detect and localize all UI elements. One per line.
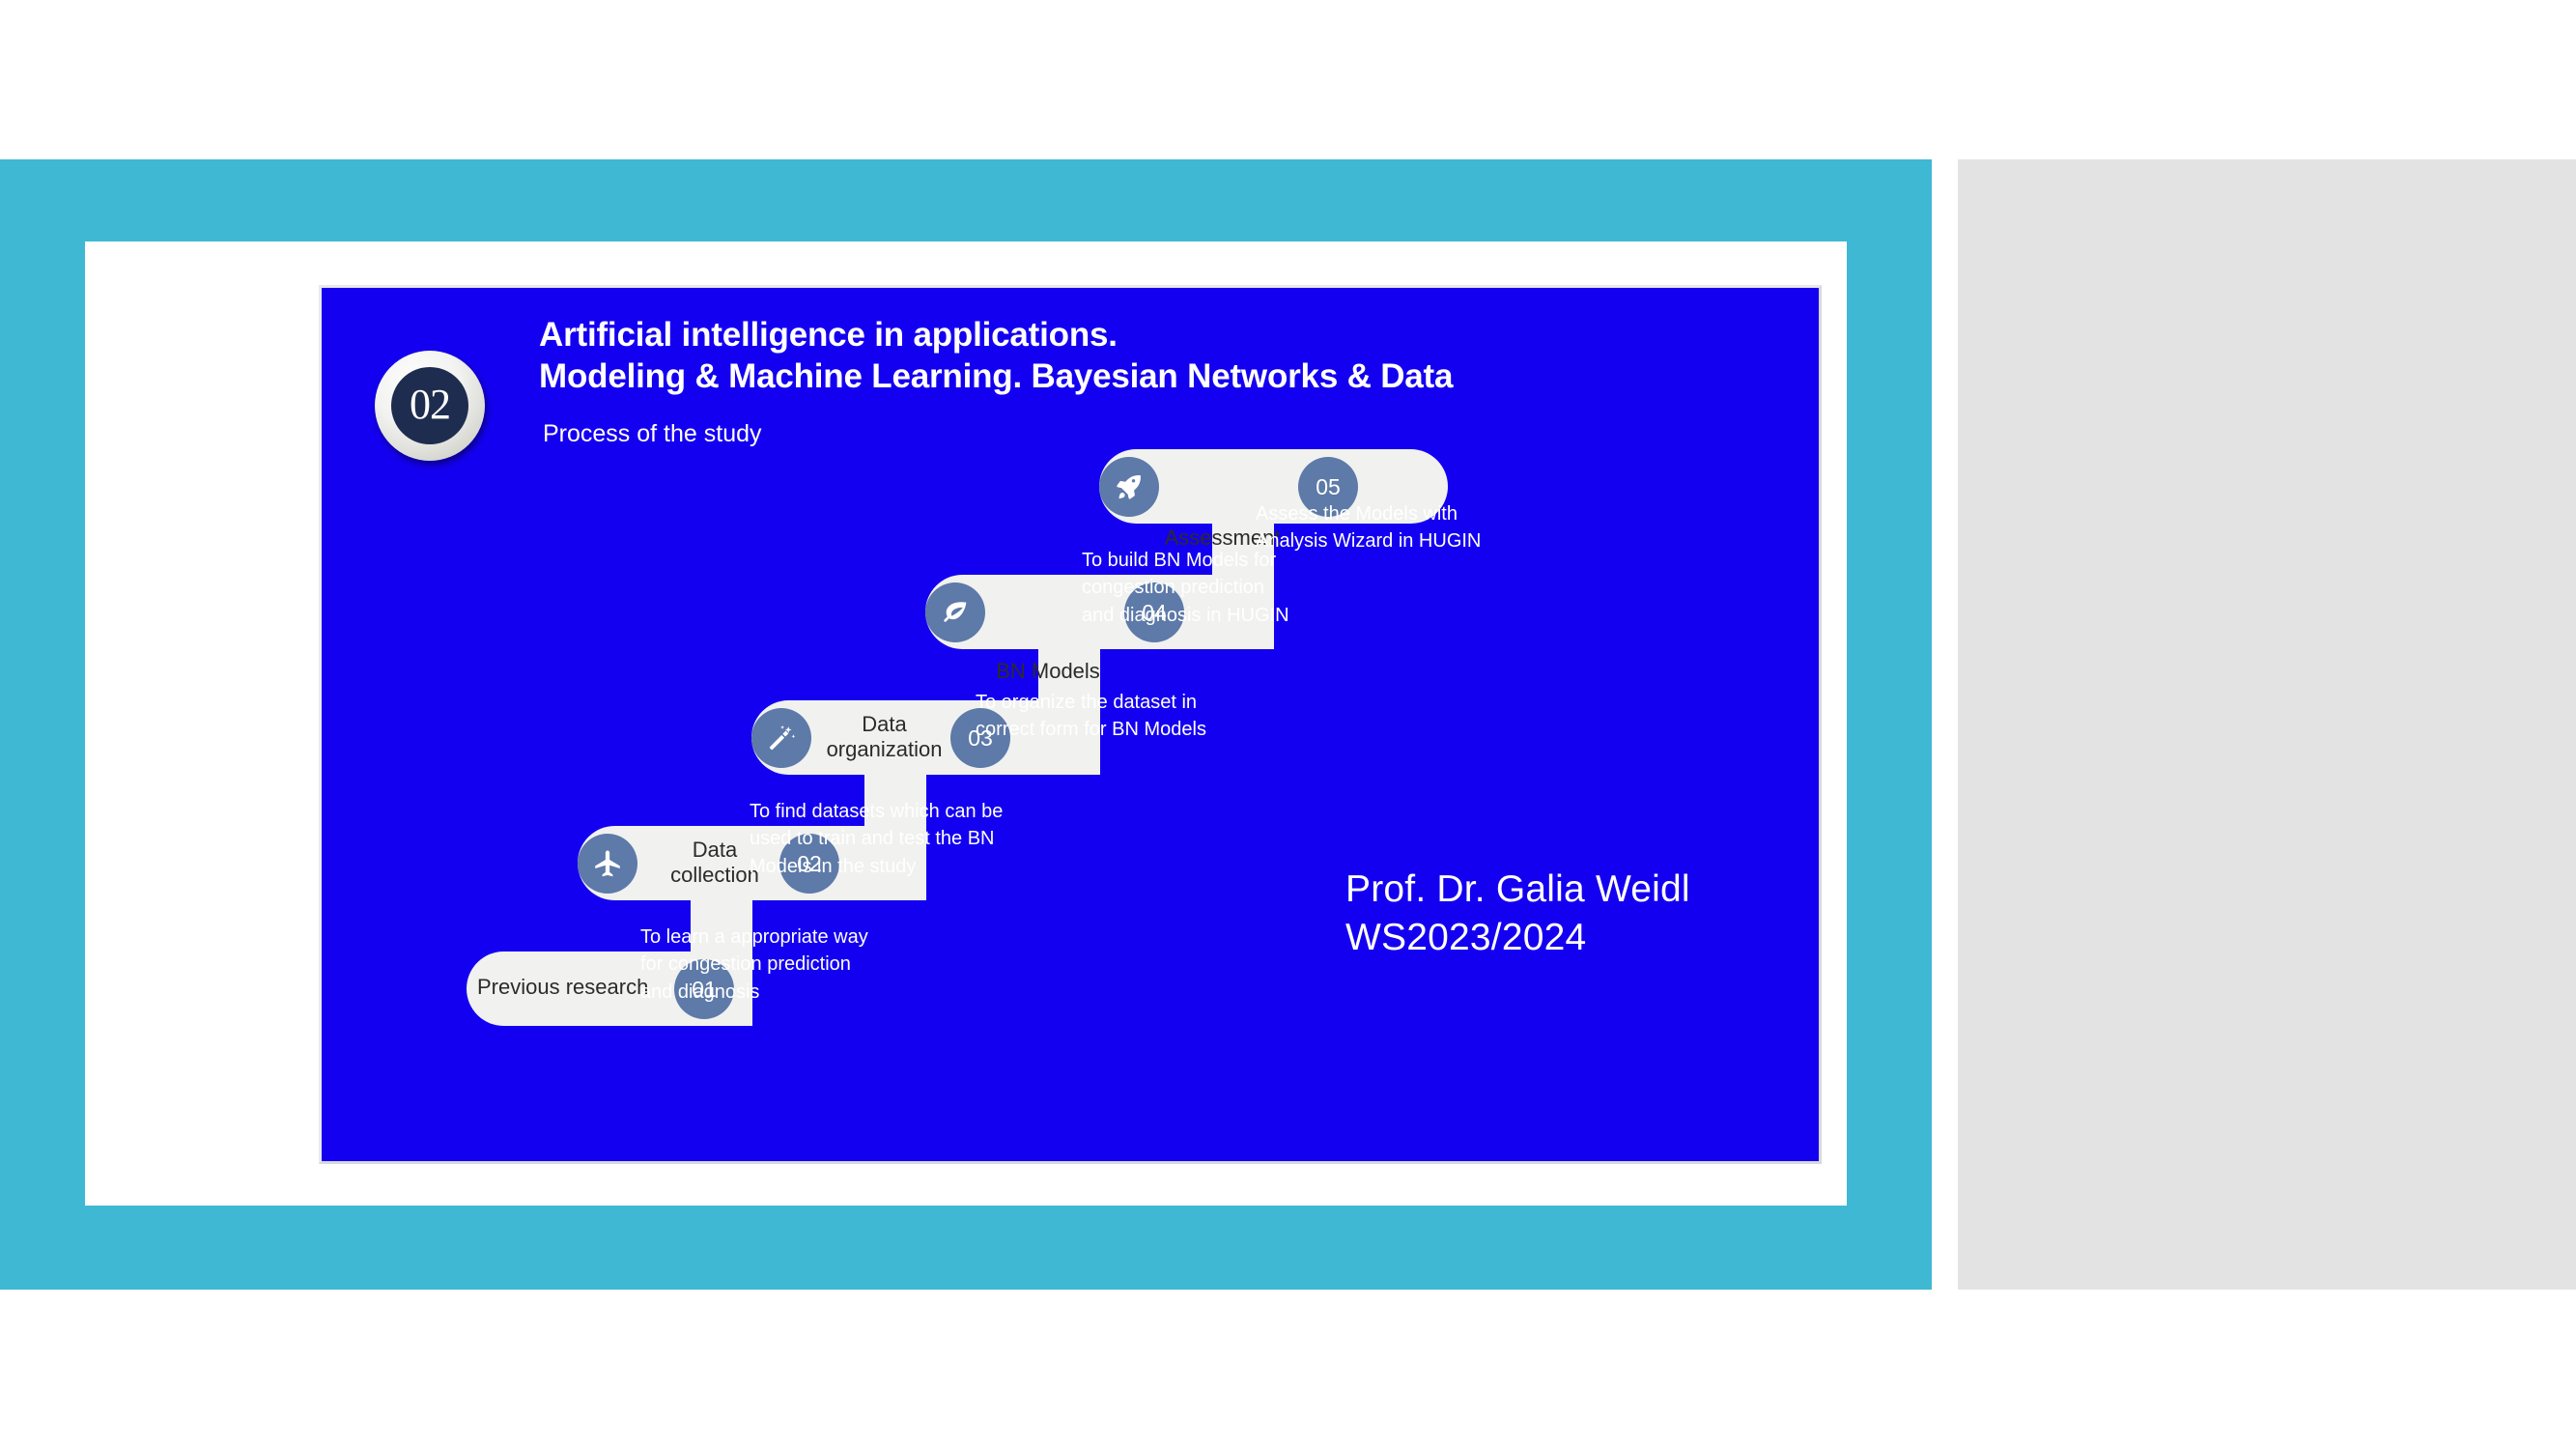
footer-author: Prof. Dr. Galia Weidl <box>1345 866 1690 914</box>
title-line-1: Artificial intelligence in applications. <box>539 315 1737 356</box>
step-bar-01 <box>467 952 752 1026</box>
footer-term: WS2023/2024 <box>1345 914 1690 962</box>
step-number-05: 05 <box>1298 457 1358 517</box>
step-description-03: To organize the dataset in correct form … <box>976 689 1256 744</box>
slide-footer: Prof. Dr. Galia Weidl WS2023/2024 <box>1345 866 1690 962</box>
slide-subtitle: Process of the study <box>543 420 762 448</box>
riser-01-02 <box>691 895 752 991</box>
step-number-03: 03 <box>950 708 1010 768</box>
riser-02-03 <box>864 769 926 866</box>
step-label-04: BN Models <box>971 659 1125 684</box>
rocket-icon <box>1099 457 1159 517</box>
step-label-02: Data collection <box>642 838 787 887</box>
riser-03-04 <box>1038 643 1100 740</box>
magic-wand-icon <box>751 708 811 768</box>
section-number-badge: 02 <box>375 351 485 461</box>
page-title: Artificial intelligence in applications.… <box>539 315 1737 397</box>
leaf-icon <box>925 582 985 642</box>
step-number-04: 04 <box>1124 582 1184 642</box>
step-description-01: To learn a appropriate way for congestio… <box>640 923 911 1006</box>
step-label-05: Assessment <box>1138 526 1307 551</box>
step-description-04: To build BN Models for congestion predic… <box>1082 547 1362 629</box>
gray-side-panel <box>1958 159 2576 1290</box>
step-label-01: Previous research <box>477 975 709 1000</box>
section-number-text: 02 <box>410 384 450 426</box>
staircase-process-diagram: Previous research 01 To learn a appropri… <box>322 288 1819 1161</box>
step-bar-03 <box>751 700 1100 775</box>
riser-04-05 <box>1212 518 1274 614</box>
step-bar-04 <box>925 575 1274 649</box>
step-bar-05 <box>1099 449 1448 524</box>
step-label-03: Data organization <box>805 712 964 761</box>
title-line-2: Modeling & Machine Learning. Bayesian Ne… <box>539 356 1737 398</box>
airplane-icon <box>578 834 637 894</box>
presentation-slide[interactable]: 02 Artificial intelligence in applicatio… <box>319 285 1822 1164</box>
section-number-badge-inner: 02 <box>391 367 468 444</box>
step-number-02: 02 <box>779 834 839 894</box>
step-description-05: Assess the Models with Analysis Wizard i… <box>1256 500 1536 555</box>
step-number-01: 01 <box>674 959 734 1019</box>
step-bar-02 <box>578 826 926 900</box>
step-description-02: To find datasets which can be used to tr… <box>750 798 1039 880</box>
